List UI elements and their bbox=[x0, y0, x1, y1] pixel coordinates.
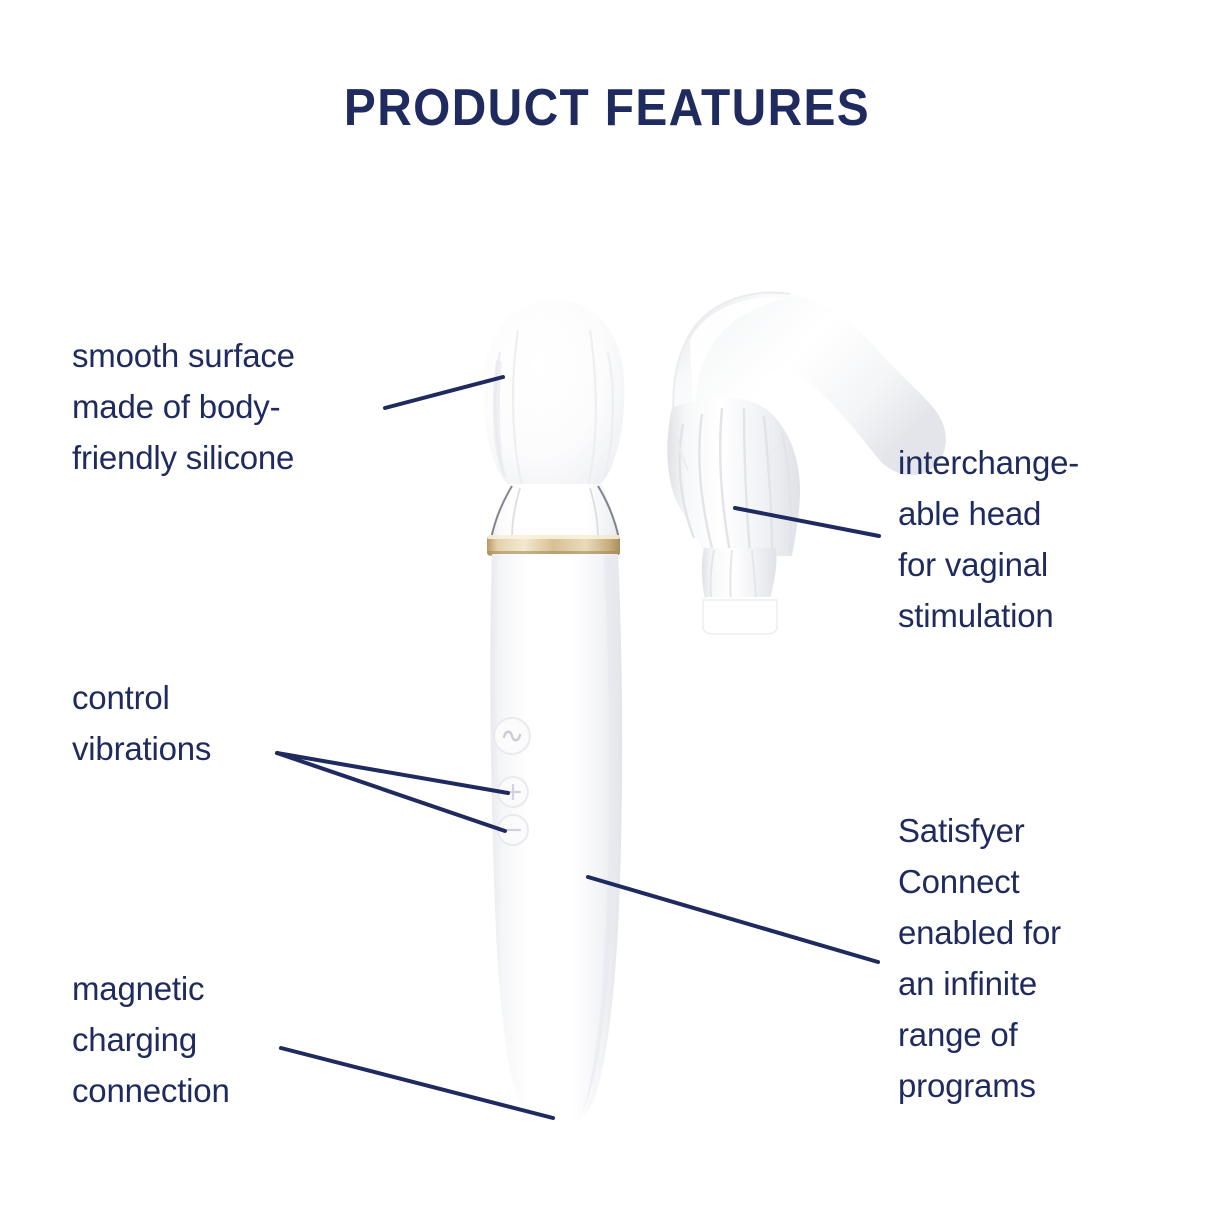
control-buttons bbox=[494, 718, 530, 845]
gold-accent-ring bbox=[487, 535, 620, 556]
power-button bbox=[494, 718, 530, 754]
leader-satisfyer-connect bbox=[588, 877, 878, 962]
product-features-infographic: PRODUCT FEATURES bbox=[0, 0, 1214, 1214]
plus-icon bbox=[506, 785, 520, 799]
wave-icon bbox=[504, 732, 520, 741]
callout-satisfyer-connect: Satisfyer Connect enabled for an infinit… bbox=[898, 805, 1148, 1111]
page-title: PRODUCT FEATURES bbox=[49, 78, 1166, 138]
intensity-up-button bbox=[498, 777, 528, 807]
callout-smooth-surface: smooth surface made of body- friendly si… bbox=[72, 330, 412, 483]
leader-interchangeable bbox=[735, 508, 879, 536]
callout-magnetic-charging: magnetic charging connection bbox=[72, 963, 372, 1116]
callout-control-vibrations: control vibrations bbox=[72, 672, 372, 774]
callout-interchangeable-head: interchange- able head for vaginal stimu… bbox=[898, 437, 1148, 641]
intensity-down-button bbox=[498, 815, 528, 845]
wand-illustration bbox=[484, 300, 625, 1130]
